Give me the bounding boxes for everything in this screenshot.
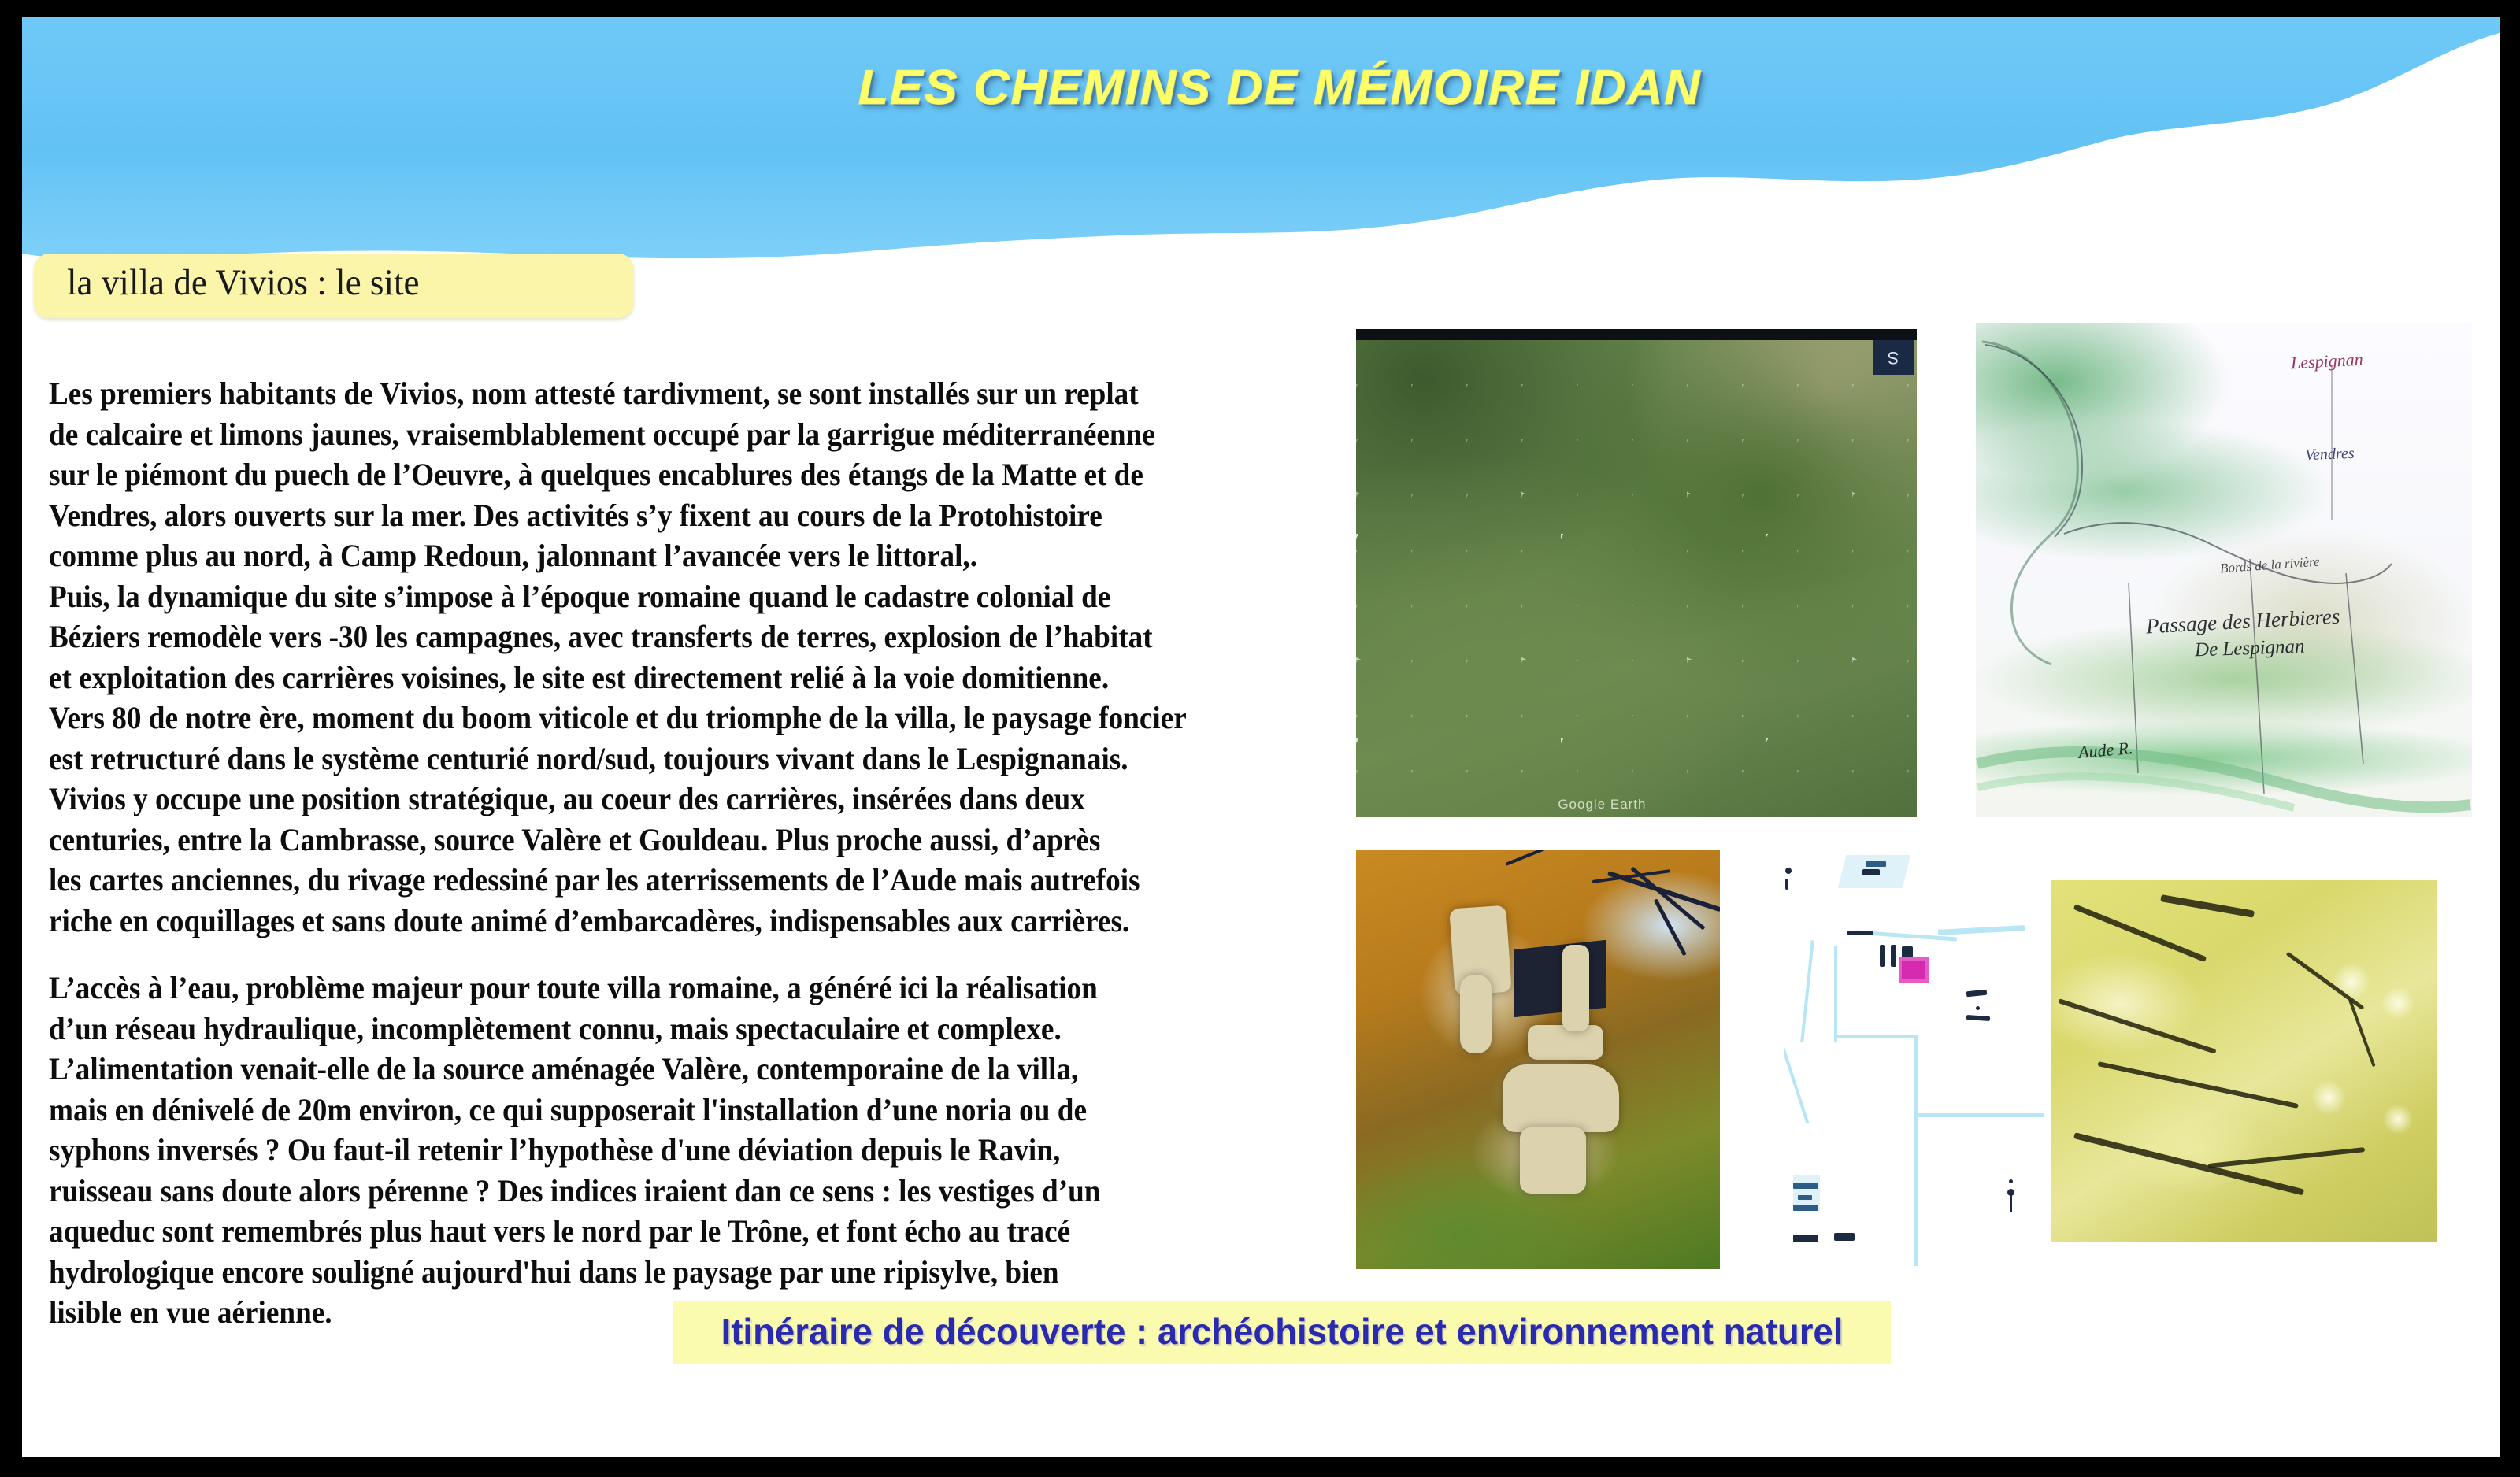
plan-legend-line-3 bbox=[1793, 1205, 1818, 1211]
plan-mark-11 bbox=[1785, 879, 1788, 890]
plan-legend-line-2 bbox=[1798, 1195, 1812, 1200]
plan-mark-8 bbox=[1976, 1006, 1980, 1010]
plan-line-4 bbox=[1914, 1035, 1918, 1266]
quarry-block-3 bbox=[1528, 1025, 1603, 1060]
section-banner-label: la villa de Vivios : le site bbox=[67, 261, 420, 304]
quarry-block-5 bbox=[1520, 1127, 1586, 1194]
shell-rock-photo-image bbox=[2051, 880, 2437, 1242]
plan-mark-2 bbox=[1862, 869, 1880, 875]
shell-rock-photo-figure bbox=[2051, 880, 2437, 1242]
slide-page: LES CHEMINS DE MÉMOIRE IDAN la villa de … bbox=[22, 17, 2500, 1457]
plan-mark-1 bbox=[1866, 861, 1886, 867]
hydraulic-plan-figure bbox=[1784, 846, 2044, 1268]
aerial-watermark: Google Earth bbox=[1558, 797, 1646, 813]
section-banner: la villa de Vivios : le site bbox=[34, 254, 634, 318]
plan-line-5 bbox=[1914, 1113, 2044, 1117]
old-map-annotation-lespignan: Lespignan bbox=[2290, 350, 2363, 374]
body-text-block: Les premiers habitants de Vivios, nom at… bbox=[49, 373, 1372, 1333]
aerial-corner-badge: S bbox=[1873, 340, 1914, 375]
quarry-photo-image bbox=[1356, 850, 1720, 1269]
plan-mark-3 bbox=[1847, 931, 1873, 935]
paragraph-site-history: Les premiers habitants de Vivios, nom at… bbox=[49, 373, 1279, 941]
old-map-figure: Lespignan Vendres Passage des Herbieres … bbox=[1976, 323, 2472, 817]
quarry-shadow-1 bbox=[1514, 940, 1606, 1017]
plan-legend-swatch-1 bbox=[1793, 1235, 1818, 1242]
hydraulic-plan-image bbox=[1784, 846, 2044, 1268]
plan-mark-4 bbox=[1880, 945, 1885, 967]
plan-mark-12 bbox=[2009, 1179, 2013, 1183]
aerial-top-bar bbox=[1356, 329, 1917, 340]
quarry-photo-figure bbox=[1356, 850, 1720, 1269]
plan-mark-14 bbox=[2010, 1195, 2012, 1212]
old-map-annotation-vendres: Vendres bbox=[2305, 445, 2355, 465]
plan-mark-10 bbox=[1785, 868, 1792, 874]
quarry-block-4 bbox=[1503, 1064, 1619, 1132]
plan-highlight-box bbox=[1899, 957, 1929, 983]
old-map-annotation-de-lespignan: De Lespignan bbox=[2195, 636, 2305, 662]
plan-legend-swatch-2 bbox=[1834, 1233, 1855, 1241]
itinerary-banner: Itinéraire de découverte : archéohistoir… bbox=[673, 1301, 1891, 1364]
slide-canvas: LES CHEMINS DE MÉMOIRE IDAN la villa de … bbox=[0, 0, 2520, 1477]
paragraph-water-access: L’accès à l’eau, problème majeur pour to… bbox=[49, 968, 1279, 1333]
page-title: LES CHEMINS DE MÉMOIRE IDAN bbox=[22, 60, 2500, 116]
aerial-photo-figure: S Google Earth bbox=[1356, 329, 1917, 817]
plan-legend-line-1 bbox=[1793, 1183, 1818, 1189]
header-blue-wave: LES CHEMINS DE MÉMOIRE IDAN bbox=[22, 17, 2500, 277]
itinerary-banner-label: Itinéraire de découverte : archéohistoir… bbox=[680, 1310, 1885, 1353]
plan-line-3 bbox=[1834, 1035, 1918, 1038]
plan-mark-5 bbox=[1891, 945, 1896, 967]
aerial-photo-image bbox=[1356, 329, 1917, 817]
quarry-block-6 bbox=[1562, 945, 1589, 1031]
plan-line-2 bbox=[1834, 946, 1837, 1042]
quarry-block-2 bbox=[1460, 975, 1492, 1053]
